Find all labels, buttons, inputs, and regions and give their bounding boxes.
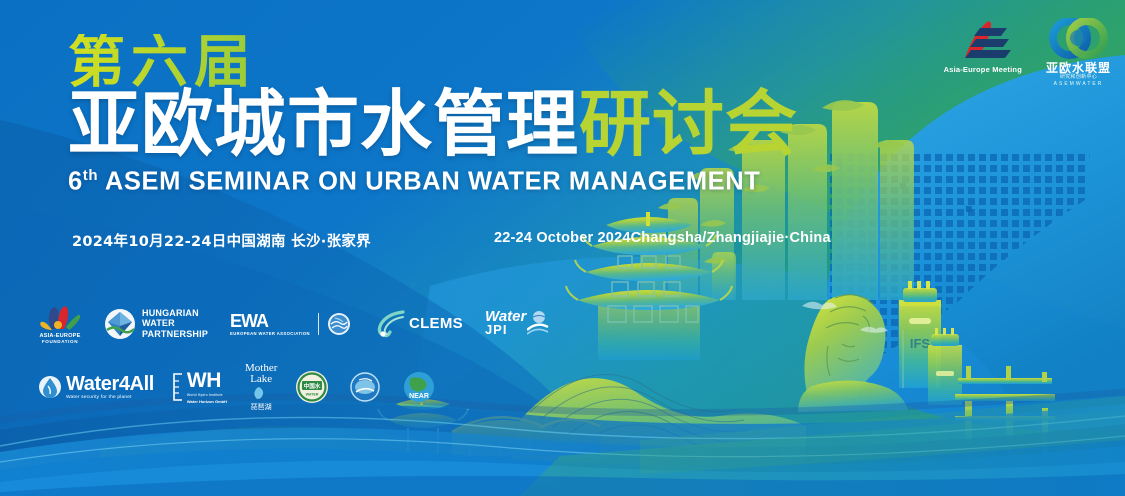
mother-lake-line3: 琵琶湖	[251, 402, 272, 412]
partner-row-1: ASIA-EUROPE FOUNDATION HUNGARIAN WATER P…	[38, 303, 549, 344]
asef-line2: FOUNDATION	[42, 339, 78, 344]
title-en: 6th ASEM SEMINAR ON URBAN WATER MANAGEME…	[68, 167, 798, 197]
partner-row-2: Water4All Water security for the planet …	[38, 363, 549, 412]
partner-asia-europe-foundation[interactable]: ASIA-EUROPE FOUNDATION	[38, 303, 82, 344]
partner-water4all[interactable]: Water4All Water security for the planet	[38, 374, 154, 400]
green-seal-cn: 中国水	[304, 382, 321, 390]
title-en-ordinal: 6	[68, 168, 83, 196]
title-en-ordinal-suffix: th	[83, 167, 98, 184]
wh-sub: World Hydro Institute	[187, 393, 223, 397]
interlocking-rings-icon	[1047, 18, 1109, 60]
location-cn: 中国湖南 长沙·张家界	[227, 230, 371, 251]
partner-logos: ASIA-EUROPE FOUNDATION HUNGARIAN WATER P…	[38, 303, 549, 412]
ifs-tower-label: IFS	[910, 336, 931, 351]
title-cn-green: 研讨会	[579, 82, 798, 166]
hwp-diamond-icon	[104, 308, 136, 340]
water4all-main: Water4All	[66, 374, 154, 394]
partner-clems[interactable]: CLEMS	[373, 308, 463, 340]
waterjpi-globe-icon	[527, 310, 549, 338]
asemwater-logo[interactable]: 亚欧水联盟 研究和创新中心 ASEMWATER	[1046, 18, 1111, 87]
conference-banner: IFS	[0, 0, 1125, 496]
date-cn: 2024年10月22-24日	[72, 230, 227, 251]
location-en: Changsha/Zhangjiajie·China	[631, 230, 831, 246]
asemwater-sub-cn: 研究和创新中心	[1060, 75, 1097, 81]
date-row-cn: 2024年10月22-24日 中国湖南 长沙·张家界	[72, 230, 371, 251]
date-en: 22-24 October 2024	[494, 230, 631, 246]
title-en-rest: ASEM SEMINAR ON URBAN WATER MANAGEMENT	[98, 168, 760, 196]
waterjpi-line2: JPI	[485, 324, 508, 336]
partner-blue-circle[interactable]	[347, 370, 383, 404]
asem-logo[interactable]: Asia-Europe Meeting	[944, 18, 1022, 74]
w4a-drop-icon	[38, 374, 62, 400]
title-cn-white: 亚欧城市水管理	[68, 82, 579, 166]
asem-caption: Asia-Europe Meeting	[944, 65, 1022, 74]
water4all-sub: Water security for the planet	[66, 395, 132, 400]
near-globe-icon: NEAR	[401, 370, 437, 404]
asem-swoosh-icon	[947, 18, 1019, 62]
mother-lake-icon	[250, 386, 272, 400]
wh-bracket-icon	[172, 372, 184, 402]
headline: 第六届 亚欧城市水管理研讨会 6th ASEM SEMINAR ON URBAN…	[68, 34, 798, 197]
hwp-line2: WATER	[142, 318, 208, 329]
top-logos: Asia-Europe Meeting 亚欧水联盟 研究和创新中心 ASEMWA…	[944, 18, 1111, 87]
date-row-en: 22-24 October 2024 Changsha/Zhangjiajie·…	[494, 230, 831, 246]
partner-mother-lake[interactable]: Mother Lake 琵琶湖	[245, 363, 277, 412]
wh-main: WH	[187, 370, 221, 391]
wh-sub2: Water Horizon GmbH	[187, 399, 227, 404]
clems-label: CLEMS	[409, 315, 463, 332]
clems-wave-icon	[373, 308, 407, 340]
secondary-tower	[928, 328, 962, 405]
blue-circle-icon	[347, 370, 383, 404]
hwp-line1: HUNGARIAN	[142, 308, 208, 319]
green-seal-sub: WATER	[306, 393, 319, 397]
near-label: NEAR	[409, 393, 429, 400]
partner-hungarian-water-partnership[interactable]: HUNGARIAN WATER PARTNERSHIP	[104, 308, 208, 340]
ewa-sub: EUROPEAN WATER ASSOCIATION	[230, 331, 310, 336]
partner-near[interactable]: NEAR	[401, 370, 437, 404]
ewa-globe-icon	[327, 312, 351, 336]
asemwater-cn: 亚欧水联盟	[1046, 62, 1111, 74]
partner-wh[interactable]: WH World Hydro Institute Water Horizon G…	[172, 370, 227, 404]
mother-lake-line2: Lake	[250, 374, 272, 386]
ewa-main: EWA	[230, 312, 268, 330]
ewa-separator	[318, 313, 319, 335]
partner-european-water-association[interactable]: EWA EUROPEAN WATER ASSOCIATION	[230, 312, 351, 336]
asemwater-sub-en: ASEMWATER	[1054, 82, 1104, 88]
partner-green-seal[interactable]: 中国水 WATER	[295, 370, 329, 404]
partner-water-jpi[interactable]: Water JPI	[485, 310, 549, 338]
hwp-line3: PARTNERSHIP	[142, 329, 208, 340]
title-cn-main: 亚欧城市水管理研讨会	[68, 88, 798, 161]
green-seal-icon: 中国水 WATER	[295, 370, 329, 404]
asef-petals-icon	[38, 303, 82, 333]
